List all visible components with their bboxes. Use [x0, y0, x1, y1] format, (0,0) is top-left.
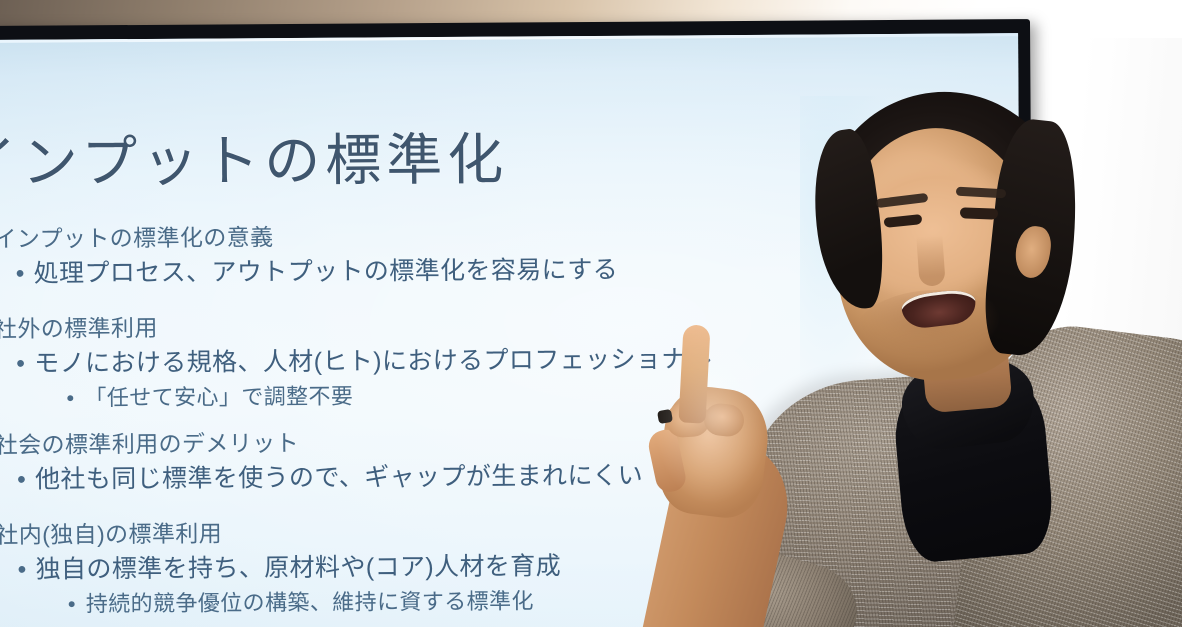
slide-section: インプットの標準化の意義 •処理プロセス、アウトプットの標準化を容易にする — [0, 215, 1010, 292]
bullet-marker: • — [68, 587, 86, 621]
slide-section: 社外の標準利用 •モノにおける規格、人材(ヒト)におけるプロフェッショナル •「… — [0, 305, 1011, 416]
slide: インプットの標準化 インプットの標準化の意義 •処理プロセス、アウトプットの標準… — [0, 33, 1022, 627]
display-screen: インプットの標準化 インプットの標準化の意義 •処理プロセス、アウトプットの標準… — [0, 33, 1022, 627]
bullet-marker: • — [17, 552, 35, 588]
bullet-marker: • — [66, 381, 84, 415]
bullet-text: 「任せて安心」で調整不要 — [84, 384, 353, 411]
sub-bullet-item: •持続的競争優位の構築、維持に資する標準化 — [0, 581, 1012, 622]
bullet-text: 持続的競争優位の構築、維持に資する標準化 — [86, 588, 534, 616]
bullet-marker: • — [17, 462, 35, 498]
bullet-marker: • — [16, 346, 34, 382]
video-frame: インプットの標準化 インプットの標準化の意義 •処理プロセス、アウトプットの標準… — [0, 0, 1182, 627]
slide-title: インプットの標準化 — [0, 115, 508, 200]
presentation-display: インプットの標準化 インプットの標準化の意義 •処理プロセス、アウトプットの標準… — [0, 19, 1034, 627]
slide-section: 社会の標準利用のデメリット •他社も同じ標準を使うので、ギャップが生まれにくい — [0, 421, 1011, 498]
bullet-text: 他社も同じ標準を使うので、ギャップが生まれにくい — [35, 462, 643, 494]
slide-section: 社内(独自)の標準利用 •独自の標準を持ち、原材料や(コア)人材を育成 •持続的… — [0, 511, 1012, 622]
bullet-item: •他社も同じ標準を使うので、ギャップが生まれにくい — [0, 455, 1011, 498]
bullet-text: 処理プロセス、アウトプットの標準化を容易にする — [34, 256, 619, 288]
bullet-text: モノにおける規格、人材(ヒト)におけるプロフェッショナル — [34, 345, 712, 377]
section-spacer — [0, 621, 1012, 627]
bullet-text: 独自の標準を持ち、原材料や(コア)人材を育成 — [36, 552, 562, 583]
sub-bullet-item: •「任せて安心」で調整不要 — [0, 375, 1011, 416]
bullet-marker: • — [16, 256, 34, 292]
slide-body: インプットの標準化の意義 •処理プロセス、アウトプットの標準化を容易にする 社外… — [0, 215, 1013, 627]
bullet-item: •処理プロセス、アウトプットの標準化を容易にする — [0, 249, 1010, 292]
